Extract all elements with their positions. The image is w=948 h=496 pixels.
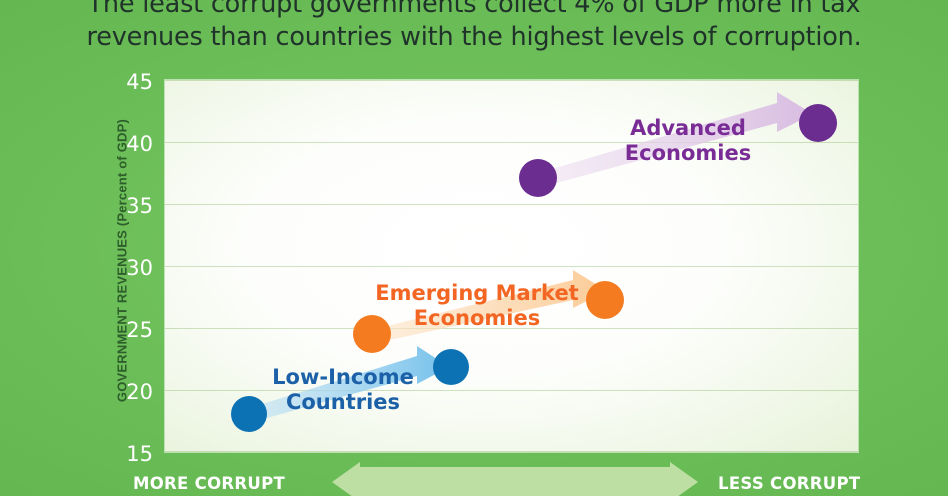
series-label-emerging-market: Emerging Market Economies [362, 281, 592, 331]
datapoint-advanced-1[interactable] [519, 159, 557, 197]
gridline-30 [165, 266, 858, 267]
datapoint-advanced-2[interactable] [799, 104, 837, 142]
x-axis: MORE CORRUPT LESS CORRUPT [0, 460, 948, 496]
datapoint-low-income-2[interactable] [433, 349, 469, 385]
gridline-45 [165, 80, 858, 81]
x-label-less-corrupt: LESS CORRUPT [718, 474, 860, 493]
y-axis-tick-labels: 45 40 35 30 25 20 15 [109, 80, 153, 452]
x-label-more-corrupt: MORE CORRUPT [133, 474, 285, 493]
y-tick-25: 25 [111, 318, 153, 342]
gridline-35 [165, 204, 858, 205]
series-label-advanced-economies: Advanced Economies [593, 116, 783, 166]
y-tick-40: 40 [111, 132, 153, 156]
y-tick-20: 20 [111, 380, 153, 404]
y-tick-35: 35 [111, 194, 153, 218]
series-label-low-income: Low-Income Countries [253, 365, 433, 415]
gridline-15 [165, 451, 858, 452]
corruption-direction-arrow-icon [330, 462, 700, 496]
plot-area: Advanced Economies Emerging Market Econo… [165, 80, 858, 452]
page-title: The least corrupt governments collect 4%… [0, 0, 948, 54]
y-tick-30: 30 [111, 256, 153, 280]
infographic-root: The least corrupt governments collect 4%… [0, 0, 948, 496]
y-tick-45: 45 [111, 70, 153, 94]
